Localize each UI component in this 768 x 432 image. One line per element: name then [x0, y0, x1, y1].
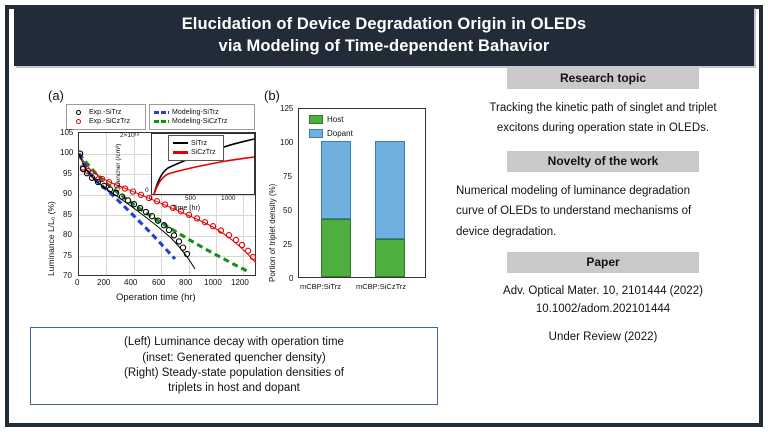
y-tick: 105	[60, 128, 73, 137]
bar-host-1	[321, 219, 351, 278]
inset-y-axis-title: Quencher (/cm³)	[115, 144, 122, 191]
section-paper: Paper Adv. Optical Mater. 10, 2101444 (2…	[450, 252, 756, 346]
line-black-icon	[172, 142, 189, 144]
y-tick: 50	[283, 206, 292, 215]
title-line-2: via Modeling of Time-dependent Bahavior	[219, 37, 550, 55]
x-tick: 800	[179, 278, 192, 287]
paper-status: Under Review (2022)	[450, 329, 756, 346]
section-research-topic: Research topic Tracking the kinetic path…	[450, 68, 756, 139]
legend-label: Host	[327, 115, 343, 124]
paper-citation: Adv. Optical Mater. 10, 2101444 (2022)	[450, 283, 756, 300]
dashed-line-blue-icon	[153, 111, 170, 114]
novelty-line-2: curve of OLEDs to understand mechanisms …	[456, 201, 750, 221]
legend-item-model-sicztrz: Modeling-SiCzTrz	[153, 117, 251, 126]
novelty-line-3: device degradation.	[456, 222, 750, 242]
right-summary-column: Research topic Tracking the kinetic path…	[450, 68, 756, 356]
panel-b-plot-area: Host Dopant	[298, 108, 426, 278]
caption-line-4: triplets in host and dopant	[168, 381, 300, 396]
novelty-body: Numerical modeling of luminance degradat…	[450, 181, 756, 242]
inset-x-tick: 1000	[221, 195, 235, 202]
spacer	[450, 318, 756, 329]
y-tick: 80	[63, 230, 72, 239]
y-tick: 100	[280, 138, 293, 147]
x-tick: 400	[124, 278, 137, 287]
inset-x-axis-title: Time (hr)	[172, 205, 200, 212]
legend-experimental: Exp.-SiTrz Exp.-SiCzTrz	[66, 104, 146, 130]
host-swatch-icon	[309, 115, 323, 124]
title-line-1: Elucidation of Device Degradation Origin…	[182, 15, 587, 33]
y-tick: 85	[63, 210, 72, 219]
panel-b-y-axis-title: Portion of triplet density (%)	[268, 184, 277, 282]
x-tick-category: mCBP:SiTrz	[300, 282, 341, 291]
caption-line-1: (Left) Luminance decay with operation ti…	[124, 335, 344, 350]
y-tick: 95	[63, 169, 72, 178]
legend-label: SiTrz	[189, 140, 207, 147]
x-tick: 200	[97, 278, 110, 287]
y-tick: 125	[280, 104, 293, 113]
caption-line-3: (Right) Steady-state population densitie…	[124, 366, 344, 381]
inset-x-tick: 500	[185, 195, 196, 202]
panel-a-inset-plot: SiTrz SiCzTrz	[151, 133, 255, 195]
table-row	[321, 141, 351, 277]
figure-panel-b: (b) Portion of triplet density (%) 125 1…	[262, 86, 442, 311]
inset-legend-item-sicztrz: SiCzTrz	[172, 148, 220, 157]
x-tick: 1200	[231, 278, 249, 287]
novelty-line-1: Numerical modeling of luminance degradat…	[456, 181, 750, 201]
legend-label: Dopant	[327, 129, 353, 138]
y-tick: 100	[60, 148, 73, 157]
legend-modeling: Modeling-SiTrz Modeling-SiCzTrz	[149, 104, 255, 130]
panel-a-plot-area: SiTrz SiCzTrz 2×10¹⁸ 0 Quencher (/cm³) 0…	[78, 132, 256, 276]
y-tick: 90	[63, 189, 72, 198]
x-tick: 0	[75, 278, 79, 287]
line-red-icon	[172, 151, 189, 153]
panel-a-y-axis-title: Luminance L/L₀ (%)	[46, 201, 56, 276]
poster-page: Elucidation of Device Degradation Origin…	[0, 0, 768, 432]
inset-x-tick: 0	[149, 195, 153, 202]
paper-doi: 10.1002/adom.202101444	[450, 301, 756, 318]
inset-legend-item-sitrz: SiTrz	[172, 139, 220, 148]
panel-b-label: (b)	[264, 88, 280, 103]
legend-label: Exp.-SiCzTrz	[87, 118, 130, 125]
bar-dopant-2	[375, 141, 405, 239]
x-tick: 600	[152, 278, 165, 287]
paper-heading: Paper	[507, 252, 699, 273]
open-circle-red-icon	[70, 119, 87, 124]
novelty-heading: Novelty of the work	[507, 151, 699, 172]
panel-a-x-axis-title: Operation time (hr)	[116, 292, 196, 303]
research-topic-line-1: Tracking the kinetic path of singlet and…	[450, 98, 756, 118]
x-tick-category: mCBP:SiCzTrz	[356, 282, 406, 291]
y-tick: 70	[63, 271, 72, 280]
legend-label: Modeling-SiTrz	[170, 109, 219, 116]
y-tick: 75	[63, 251, 72, 260]
research-topic-heading: Research topic	[507, 68, 699, 89]
bar-host-2	[375, 239, 405, 277]
paper-body: Adv. Optical Mater. 10, 2101444 (2022) 1…	[450, 283, 756, 346]
legend-item-host: Host	[309, 115, 343, 124]
dashed-line-green-icon	[153, 120, 170, 123]
y-tick: 75	[283, 172, 292, 181]
open-circle-black-icon	[70, 110, 87, 115]
caption-line-2: (inset: Generated quencher density)	[142, 351, 325, 366]
x-tick: 1000	[204, 278, 222, 287]
legend-item-dopant: Dopant	[309, 129, 353, 138]
legend-label: Modeling-SiCzTrz	[170, 118, 227, 125]
legend-item-model-sitrz: Modeling-SiTrz	[153, 108, 251, 117]
page-title: Elucidation of Device Degradation Origin…	[182, 14, 587, 58]
poster-title-bar: Elucidation of Device Degradation Origin…	[14, 6, 754, 66]
research-topic-body: Tracking the kinetic path of singlet and…	[450, 98, 756, 139]
dopant-swatch-icon	[309, 129, 323, 138]
inset-curve-sicztrz	[154, 157, 254, 194]
panel-a-label: (a)	[48, 88, 64, 103]
inset-y-tick-zero: 0	[145, 187, 149, 194]
inset-y-tick-top: 2×10¹⁸	[120, 132, 140, 139]
y-tick: 25	[283, 240, 292, 249]
section-novelty: Novelty of the work Numerical modeling o…	[450, 151, 756, 242]
figure-caption-box: (Left) Luminance decay with operation ti…	[30, 327, 438, 405]
legend-label: Exp.-SiTrz	[87, 109, 121, 116]
y-tick: 0	[289, 274, 293, 283]
table-row	[375, 141, 405, 277]
legend-label: SiCzTrz	[189, 149, 216, 156]
inset-legend: SiTrz SiCzTrz	[168, 135, 224, 161]
legend-item-exp-sicztrz: Exp.-SiCzTrz	[70, 117, 142, 126]
figure-panel-a: (a) Exp.-SiTrz Exp.-SiCzTrz Modeling-SiT…	[42, 86, 262, 311]
research-topic-line-2: excitons during operation state in OLEDs…	[450, 118, 756, 138]
legend-item-exp-sitrz: Exp.-SiTrz	[70, 108, 142, 117]
bar-dopant-1	[321, 141, 351, 219]
